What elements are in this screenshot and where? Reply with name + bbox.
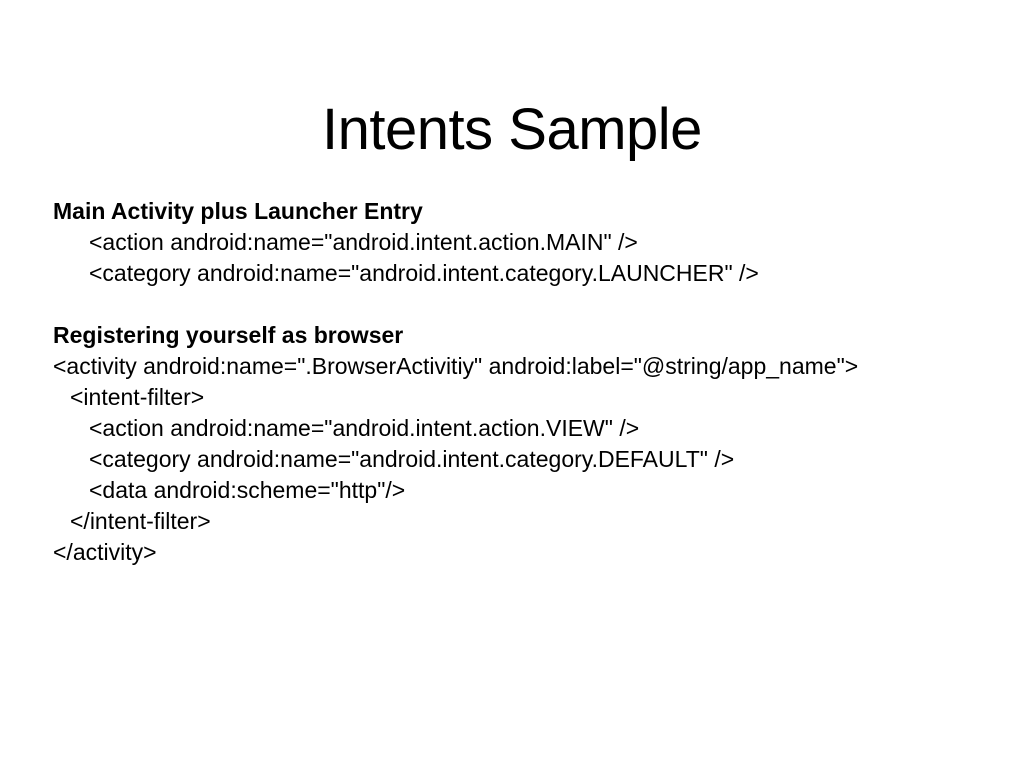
block-heading: Registering yourself as browser (53, 320, 993, 351)
code-line: <intent-filter> (53, 382, 993, 413)
content-block-browser-registration: Registering yourself as browser <activit… (53, 320, 993, 568)
code-line: <activity android:name=".BrowserActiviti… (53, 351, 993, 382)
content-block-main-activity: Main Activity plus Launcher Entry <actio… (53, 196, 993, 289)
code-line: </activity> (53, 537, 993, 568)
slide-body: Main Activity plus Launcher Entry <actio… (53, 196, 993, 568)
code-line: </intent-filter> (53, 506, 993, 537)
code-line: <category android:name="android.intent.c… (53, 258, 993, 289)
page-title: Intents Sample (0, 101, 1024, 159)
code-line: <category android:name="android.intent.c… (53, 444, 993, 475)
code-line: <data android:scheme="http"/> (53, 475, 993, 506)
slide: Intents Sample Main Activity plus Launch… (0, 0, 1024, 768)
code-line: <action android:name="android.intent.act… (53, 413, 993, 444)
code-line: <action android:name="android.intent.act… (53, 227, 993, 258)
block-heading: Main Activity plus Launcher Entry (53, 196, 993, 227)
